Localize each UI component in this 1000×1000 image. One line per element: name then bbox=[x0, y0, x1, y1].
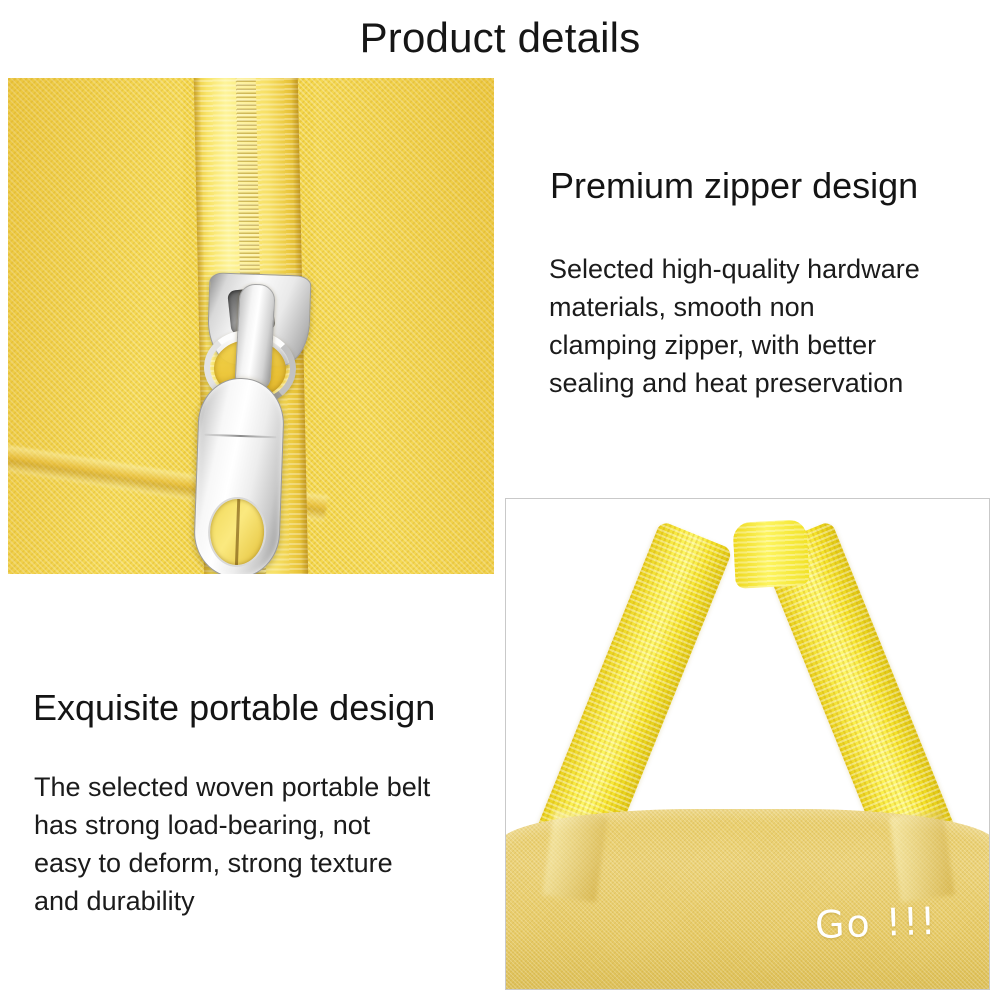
feature-body-line: easy to deform, strong texture bbox=[34, 844, 494, 882]
feature-body-line: sealing and heat preservation bbox=[549, 364, 985, 402]
zipper-pull-body bbox=[193, 377, 286, 574]
feature-body-line: has strong load-bearing, not bbox=[34, 806, 494, 844]
feature-body-line: materials, smooth non bbox=[549, 288, 985, 326]
feature-body-line: clamping zipper, with better bbox=[549, 326, 985, 364]
feature-heading-exquisite-portable: Exquisite portable design bbox=[33, 686, 435, 730]
product-details-page: Product details Premium zipper design Se… bbox=[0, 0, 1000, 1000]
handle-closeup-photo: Go !!! bbox=[505, 498, 990, 990]
page-title: Product details bbox=[0, 12, 1000, 64]
feature-body-exquisite-portable: The selected woven portable belt has str… bbox=[34, 768, 494, 920]
bag-fold-right bbox=[889, 810, 954, 903]
feature-body-line: and durability bbox=[34, 882, 494, 920]
bag-body: Go !!! bbox=[505, 809, 990, 989]
fabric-shading-right bbox=[314, 78, 494, 574]
handle-apex bbox=[732, 519, 809, 589]
feature-body-premium-zipper: Selected high-quality hardware materials… bbox=[549, 250, 985, 402]
zipper-pull-tab bbox=[234, 283, 276, 393]
feature-body-line: Selected high-quality hardware bbox=[549, 250, 985, 288]
zipper-pull-hole bbox=[207, 496, 267, 568]
feature-body-line: The selected woven portable belt bbox=[34, 768, 494, 806]
zipper-pull-seam bbox=[204, 434, 276, 439]
bag-print-text: Go !!! bbox=[814, 899, 938, 947]
fabric-shading-left bbox=[8, 78, 183, 574]
bag-fold-left bbox=[542, 810, 607, 903]
feature-heading-premium-zipper: Premium zipper design bbox=[550, 164, 918, 208]
zipper-closeup-photo bbox=[8, 78, 494, 574]
